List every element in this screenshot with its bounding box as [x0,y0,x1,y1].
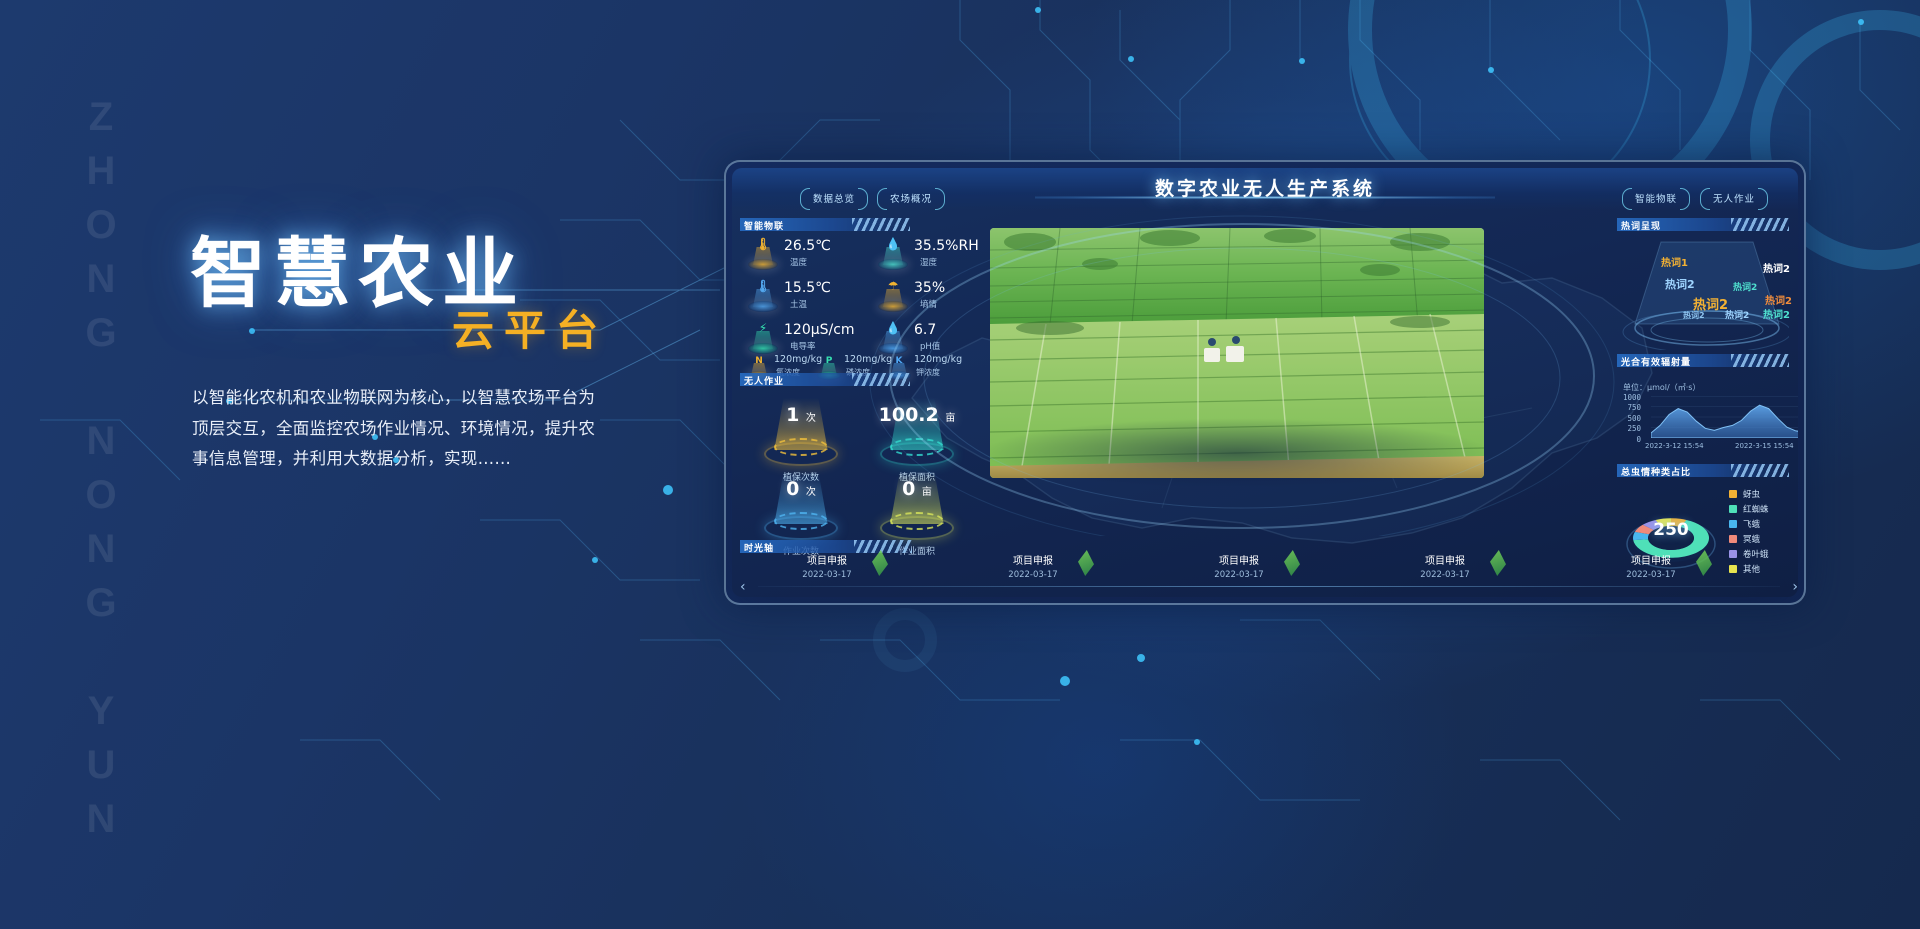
section-label-hotwords: 热词呈现 [1621,219,1661,232]
nutrient-value: 120mg/kg [914,354,962,365]
hotword-item[interactable]: 热词2 [1683,310,1705,321]
sensor-caption: 土温 [790,298,807,310]
legend-row[interactable]: 飞蛾23只 [1729,518,1798,531]
thermometer-air-icon: 🌡 [746,236,780,270]
nav-button-data-overview[interactable]: 数据总览 [800,188,868,208]
funnel-ring-inner [774,512,828,530]
soil-temp-icon: 🌡 [746,278,780,312]
section-header-iot: 智能物联 [740,218,910,232]
legend-row[interactable]: 红蜘蛛230只 [1729,503,1798,516]
legend-swatch [1729,490,1737,498]
hotword-item[interactable]: 热词2 [1665,276,1695,292]
legend-label: 红蜘蛛 [1743,503,1769,515]
hotword-item[interactable]: 热词2 [1763,306,1790,321]
legend-swatch [1729,520,1737,528]
radiation-start-time: 2022-3-12 15:54 [1645,442,1704,450]
timeline-item-date: 2022-03-17 [1380,570,1510,580]
timeline-item[interactable]: 项目申报2022-03-17 [1174,552,1304,580]
sensor-value: 15.5℃ [784,280,831,296]
sensor-caption: 墒情 [920,298,937,310]
y-tick-label: 750 [1617,403,1641,412]
nutrient-value: 120mg/kg [844,354,892,365]
ph-drop-icon: 💧 [876,320,910,354]
timeline-axis [758,586,1780,587]
timeline-item-title: 项目申报 [1380,552,1510,567]
nutrient-caption: 钾浓度 [916,367,940,378]
nav-button-farm-overview[interactable]: 农场概况 [877,188,945,208]
timeline-item-title: 项目申报 [762,552,892,567]
timeline-item-date: 2022-03-17 [968,570,1098,580]
radiation-chart: 单位：μmol/（㎡·s） 10007505002500 2022-3-12 1… [1617,366,1797,460]
sensor-value: 35.5%RH [914,238,979,254]
timeline-item[interactable]: 项目申报2022-03-17 [762,552,892,580]
section-header-unmanned: 无人作业 [740,373,910,387]
radiation-area-series [1651,396,1798,438]
funnel-ring-inner [774,438,828,456]
y-tick-label: 1000 [1617,393,1641,402]
sensor-caption: 温度 [790,256,807,268]
stat-value: 100.2 亩 [874,404,960,426]
funnel-ring-inner [890,512,944,530]
legend-label: 飞蛾 [1743,518,1760,530]
hotword-item[interactable]: 热词2 [1725,308,1749,321]
timeline-item[interactable]: 项目申报2022-03-17 [968,552,1098,580]
section-label-iot: 智能物联 [744,219,784,232]
stat-unit: 亩 [945,413,955,424]
legend-swatch [1729,505,1737,513]
stat-value: 0 亩 [874,478,960,500]
timeline-item-date: 2022-03-17 [1174,570,1304,580]
page-subtitle: 云平台 [452,297,608,358]
stat-unit: 亩 [922,487,932,498]
sensor-caption: pH值 [920,340,940,352]
nav-button-smart-iot[interactable]: 智能物联 [1622,188,1690,208]
pest-total-count: 250 [1623,520,1719,540]
section-label-unmanned: 无人作业 [744,374,784,387]
stat-value: 0 次 [758,478,844,500]
y-tick-label: 0 [1617,435,1641,444]
sensor-value: 26.5℃ [784,238,831,254]
timeline-item[interactable]: 项目申报2022-03-17 [1586,552,1716,580]
legend-row[interactable]: 冥蛾23只 [1729,533,1798,546]
funnel-ring-inner [890,438,944,456]
timeline-item-date: 2022-03-17 [762,570,892,580]
vertical-brand-text: ZHONG NONG YUN [60,95,130,745]
timeline-item[interactable]: 项目申报2022-03-17 [1380,552,1510,580]
timeline-item-date: 2022-03-17 [1586,570,1716,580]
radiation-unit-label: 单位：μmol/（㎡·s） [1623,382,1700,393]
timeline-item-title: 项目申报 [1174,552,1304,567]
hotword-item[interactable]: 热词2 [1765,292,1792,307]
stat-value: 1 次 [758,404,844,426]
sensor-value: 6.7 [914,322,936,338]
timeline-prev-button[interactable]: ‹ [740,580,746,594]
legend-swatch [1729,535,1737,543]
stat-unit: 次 [806,487,816,498]
humidity-icon: 💧 [876,236,910,270]
radiation-end-time: 2022-3-15 15:54 [1735,442,1794,450]
section-header-hotwords: 热词呈现 [1617,218,1789,232]
legend-label: 蚜虫 [1743,488,1760,500]
dashboard-panel: 数字农业无人生产系统 数据总览 农场概况 智能物联 无人作业 智能物联 🌡26.… [724,160,1806,605]
nutrient-value: 120mg/kg [774,354,822,365]
conductivity-icon: ⚡ [746,320,780,354]
field-photo-shadow [980,418,1494,488]
hotword-cloud: 热词1热词2热词2热词2热词2热词2热词2热词2热词2 [1617,232,1793,350]
sensor-caption: 电导率 [790,340,816,352]
soil-moisture-icon: ☂ [876,278,910,312]
timeline-item-title: 项目申报 [968,552,1098,567]
nav-button-unmanned-ops[interactable]: 无人作业 [1700,188,1768,208]
timeline-next-button[interactable]: › [1792,580,1798,594]
timeline-item-title: 项目申报 [1586,552,1716,567]
y-tick-label: 500 [1617,414,1641,423]
hotword-item[interactable]: 热词1 [1661,254,1688,269]
sensor-caption: 湿度 [920,256,937,268]
hotword-item[interactable]: 热词2 [1733,280,1757,293]
legend-label: 冥蛾 [1743,533,1760,545]
sensor-value: 120μS/cm [784,322,855,338]
stat-unit: 次 [806,413,816,424]
legend-row[interactable]: 蚜虫23只 [1729,488,1798,501]
hotword-item[interactable]: 热词2 [1763,260,1790,275]
y-tick-label: 250 [1617,424,1641,433]
sensor-value: 35% [914,280,945,296]
intro-paragraph: 以智能化农机和农业物联网为核心，以智慧农场平台为顶层交互，全面监控农场作业情况、… [192,383,602,475]
